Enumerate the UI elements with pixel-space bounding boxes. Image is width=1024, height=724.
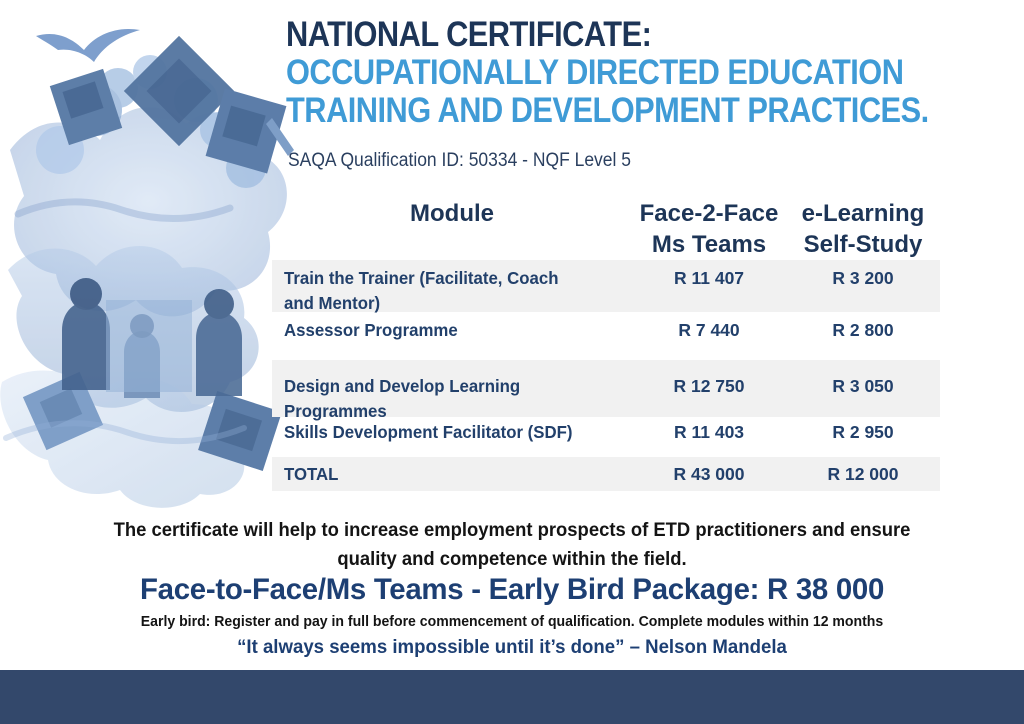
- column-header-e-learning: e-Learning Self-Study: [786, 198, 940, 260]
- column-header-f2f-line-1: Face-2-Face: [632, 198, 786, 229]
- table-cell-f2f-price: R 7 440: [632, 318, 786, 343]
- module-name-line-1: Skills Development Facilitator (SDF): [284, 420, 618, 445]
- table-cell-f2f-price: R 11 407: [632, 266, 786, 291]
- early-bird-note: Early bird: Register and pay in full bef…: [74, 612, 951, 632]
- headline-line-3: TRAINING AND DEVELOPMENT PRACTICES.: [286, 92, 902, 130]
- table-cell-f2f-price: R 11 403: [632, 420, 786, 445]
- module-name-line-1: Train the Trainer (Facilitate, Coach: [284, 266, 618, 291]
- column-header-f2f-line-2: Ms Teams: [632, 229, 786, 260]
- certificate-poster: NATIONAL CERTIFICATE: OCCUPATIONALLY DIR…: [0, 0, 1024, 724]
- footer-bar: [0, 670, 1024, 724]
- headline-line-2: OCCUPATIONALLY DIRECTED EDUCATION: [286, 54, 902, 92]
- table-row: Design and Develop Learning Programmes R…: [272, 360, 940, 417]
- module-name-line-1: Assessor Programme: [284, 318, 618, 343]
- total-label: TOTAL: [284, 462, 618, 487]
- column-header-elearning-line-1: e-Learning: [786, 198, 940, 229]
- graduation-cap-center: [124, 36, 234, 146]
- table-cell-elearning-price: R 3 200: [786, 266, 940, 291]
- table-cell-module: TOTAL: [272, 462, 632, 487]
- blurb-line-1: The certificate will help to increase em…: [74, 516, 951, 545]
- pricing-table: Module Face-2-Face Ms Teams e-Learning S…: [272, 198, 940, 491]
- graduation-cap-left: [50, 69, 122, 145]
- table-cell-elearning-price: R 2 800: [786, 318, 940, 343]
- early-bird-headline: Face-to-Face/Ms Teams - Early Bird Packa…: [69, 572, 955, 608]
- column-header-module: Module: [272, 198, 632, 229]
- table-cell-module: Train the Trainer (Facilitate, Coach and…: [272, 266, 632, 316]
- graduation-cap-right: [206, 89, 294, 174]
- column-header-face-2-face: Face-2-Face Ms Teams: [632, 198, 786, 260]
- mandela-quote: “It always seems impossible until it’s d…: [69, 634, 955, 662]
- total-elearning-price: R 12 000: [786, 462, 940, 487]
- table-row-total: TOTAL R 43 000 R 12 000: [272, 457, 940, 491]
- column-header-module-label: Module: [272, 198, 632, 229]
- blue-collage-graduation-artwork: [0, 0, 300, 520]
- brush-strokes: [6, 202, 244, 441]
- people-silhouettes: [62, 278, 242, 398]
- bird-icon: [36, 29, 140, 62]
- table-cell-module: Assessor Programme: [272, 318, 632, 343]
- certificate-blurb: The certificate will help to increase em…: [74, 516, 951, 574]
- table-row: Assessor Programme R 7 440 R 2 800: [272, 312, 940, 360]
- table-row: Skills Development Facilitator (SDF) R 1…: [272, 417, 940, 457]
- table-row: Train the Trainer (Facilitate, Coach and…: [272, 260, 940, 312]
- headline-line-1: NATIONAL CERTIFICATE:: [286, 16, 902, 54]
- module-name-line-1: Design and Develop Learning: [284, 374, 618, 399]
- total-f2f-price: R 43 000: [632, 462, 786, 487]
- table-cell-f2f-price: R 12 750: [632, 374, 786, 399]
- table-cell-module: Skills Development Facilitator (SDF): [272, 420, 632, 445]
- blurb-line-2: quality and competence within the field.: [74, 545, 951, 574]
- column-header-elearning-line-2: Self-Study: [786, 229, 940, 260]
- graduation-cap-lower-right: [198, 391, 282, 471]
- saqa-qualification-subtitle: SAQA Qualification ID: 50334 - NQF Level…: [288, 150, 631, 172]
- table-cell-elearning-price: R 3 050: [786, 374, 940, 399]
- graduation-cap-lower-left: [23, 372, 103, 450]
- table-header-row: Module Face-2-Face Ms Teams e-Learning S…: [272, 198, 940, 260]
- table-cell-elearning-price: R 2 950: [786, 420, 940, 445]
- foliage-texture: [36, 55, 266, 188]
- headline-block: NATIONAL CERTIFICATE: OCCUPATIONALLY DIR…: [286, 16, 986, 130]
- watercolor-splash: [0, 107, 287, 508]
